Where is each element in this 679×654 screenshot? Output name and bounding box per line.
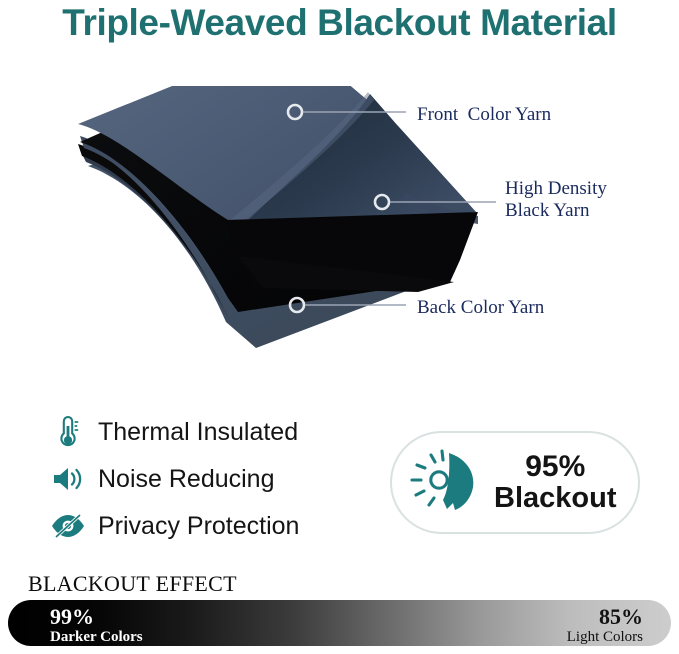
feature-label-noise-reducing: Noise Reducing — [98, 465, 275, 494]
callout-label-front-color-yarn: Front Color Yarn — [417, 104, 551, 126]
gradient-bar-right-percent: 85% — [567, 605, 643, 629]
eye-slash-icon — [48, 508, 88, 544]
gradient-bar-right-stat: 85% Light Colors — [567, 605, 643, 645]
thermometer-icon — [48, 414, 88, 450]
feature-item-thermal-insulated: Thermal Insulated — [48, 411, 368, 453]
blackout-badge: 95% Blackout — [390, 431, 640, 534]
callout-label-high-density-black-yarn: High Density Black Yarn — [505, 178, 607, 222]
feature-list: Thermal Insulated Noise Reducing Privacy… — [48, 411, 368, 552]
gradient-bar-left-stat: 99% Darker Colors — [50, 605, 143, 645]
gradient-bar-left-percent: 99% — [50, 605, 143, 629]
sun-behind-curtain-icon — [408, 446, 486, 520]
blackout-label: Blackout — [494, 483, 616, 514]
callout-dot-back — [290, 298, 304, 312]
blackout-effect-heading: BLACKOUT EFFECT — [28, 571, 237, 597]
gradient-bar-left-label: Darker Colors — [50, 629, 143, 645]
feature-item-noise-reducing: Noise Reducing — [48, 458, 368, 500]
feature-label-privacy-protection: Privacy Protection — [98, 512, 299, 541]
feature-item-privacy-protection: Privacy Protection — [48, 505, 368, 547]
callout-dot-high-density — [375, 195, 389, 209]
blackout-badge-text: 95% Blackout — [494, 451, 616, 515]
callout-label-back-color-yarn: Back Color Yarn — [417, 297, 544, 319]
callout-dot-front — [288, 105, 302, 119]
feature-label-thermal-insulated: Thermal Insulated — [98, 418, 298, 447]
gradient-bar-right-label: Light Colors — [567, 629, 643, 645]
speaker-sound-icon — [48, 461, 88, 497]
blackout-percent: 95% — [494, 451, 616, 483]
blackout-effect-gradient-bar: 99% Darker Colors 85% Light Colors — [8, 600, 671, 646]
